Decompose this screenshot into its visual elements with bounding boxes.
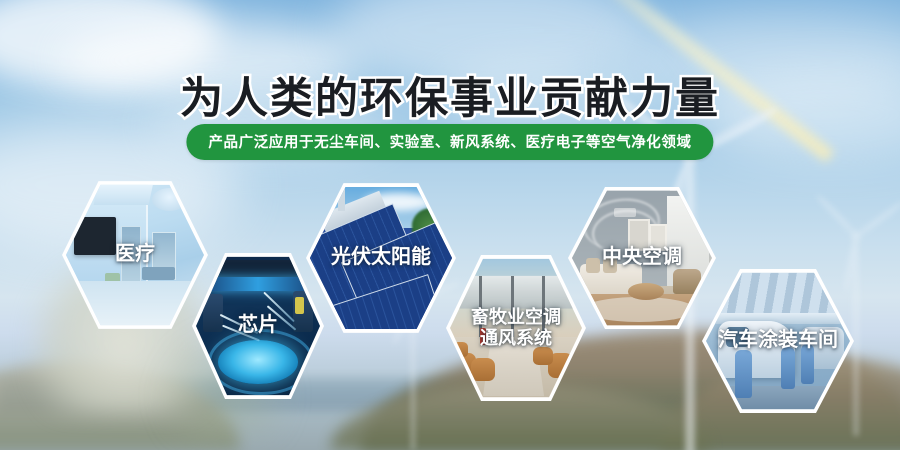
hex-label-solar: 光伏太阳能 bbox=[331, 246, 431, 270]
hex-label-medical: 医疗 bbox=[115, 243, 155, 267]
hex-label-chip: 芯片 bbox=[238, 314, 278, 338]
cow-shape bbox=[471, 358, 495, 381]
hex-label-line-1: 畜牧业空调 bbox=[471, 307, 561, 328]
cushion bbox=[586, 258, 600, 273]
hex-label-livestock: 畜牧业空调 通风系统 bbox=[471, 307, 561, 349]
coffee-table bbox=[628, 283, 664, 300]
barn-roof bbox=[452, 276, 579, 309]
silicon-wafer bbox=[218, 340, 297, 383]
hospital-bed bbox=[142, 267, 175, 280]
subtitle-banner: 产品广泛应用于无尘车间、实验室、新风系统、医疗电子等空气净化领域 bbox=[186, 124, 713, 160]
armchair bbox=[673, 269, 701, 294]
led-light-bar bbox=[208, 277, 307, 291]
hex-label-paint: 汽车涂装车间 bbox=[718, 329, 838, 353]
worker-figure bbox=[735, 350, 752, 398]
equipment-cart bbox=[105, 273, 120, 293]
hex-label-line-2: 通风系统 bbox=[471, 328, 561, 349]
indicator-block bbox=[295, 297, 304, 314]
page-title: 为人类的环保事业贡献力量 bbox=[0, 64, 900, 126]
hex-label-hvac: 中央空调 bbox=[602, 246, 682, 270]
wall-monitor bbox=[74, 217, 115, 255]
worker-figure bbox=[781, 347, 795, 390]
cow-shape bbox=[533, 347, 553, 366]
promotional-banner: 为人类的环保事业贡献力量 产品广泛应用于无尘车间、实验室、新风系统、医疗电子等空… bbox=[0, 0, 900, 450]
ceiling-panel bbox=[94, 182, 154, 205]
